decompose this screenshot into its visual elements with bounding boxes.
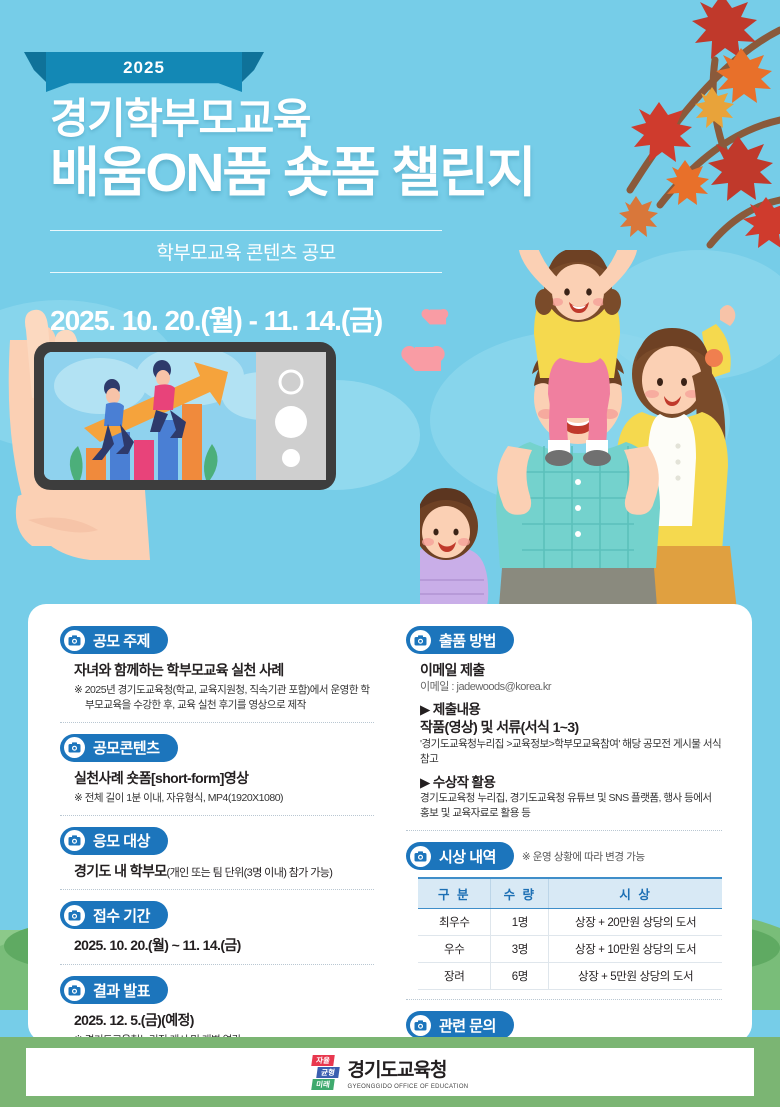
badge-eligibility: 응모 대상: [60, 827, 168, 855]
logo-tile-future: 미래: [311, 1079, 335, 1090]
logo-tile-balance: 균형: [316, 1067, 340, 1078]
table-header-row: 구 분 수 량 시 상: [418, 878, 722, 909]
smartphone-mockup: [34, 342, 336, 490]
ribbon-tail-right: [242, 52, 264, 82]
badge-contact: 관련 문의: [406, 1011, 514, 1039]
badge-label: 접수 기간: [93, 905, 150, 926]
winner-usage-heading: ▶ 수상작 활용: [420, 771, 722, 791]
badge-label: 공모 주제: [93, 630, 150, 651]
info-card: 공모 주제 자녀와 함께하는 학부모교육 실천 사례 ※ 2025년 경기도교육…: [28, 604, 752, 1042]
logo-tiles: 자율 균형 미래: [312, 1055, 339, 1090]
page-title-line1: 경기학부모교육: [50, 96, 610, 141]
eligibility-main: 경기도 내 학부모: [74, 863, 167, 879]
section-awards: 시상 내역 ※ 운영 상황에 따라 변경 가능 구 분 수 량 시 상: [406, 842, 722, 990]
awards-note: ※ 운영 상황에 따라 변경 가능: [522, 849, 645, 864]
poster-root: 2025 경기학부모교육 배움ON품 숏폼 챌린지 학부모교육 콘텐츠 공모 2…: [0, 0, 780, 1107]
table-row: 장려 6명 상장 + 5만원 상당의 도서: [418, 963, 722, 990]
submission-main-text: 이메일 제출: [420, 661, 722, 680]
application-period-text: 2025. 10. 20.(월) ~ 11. 14.(금): [74, 936, 374, 955]
section-submission-method: 출품 방법 이메일 제출 이메일 : jadewoods@korea.kr ▶ …: [406, 626, 722, 821]
submission-content-heading: ▶ 제출내용: [420, 698, 722, 718]
submission-email: 이메일 : jadewoods@korea.kr: [420, 680, 722, 695]
section-divider: [60, 964, 374, 965]
hero-subtitle: 학부모교육 콘텐츠 공모: [50, 238, 442, 265]
badge-contest-contents: 공모콘텐츠: [60, 734, 178, 762]
camera-icon: [64, 737, 85, 758]
col-header-category: 구 분: [418, 878, 491, 909]
footer-card: 자율 균형 미래 경기도교육청 GYEONGGIDO OFFICE OF EDU…: [26, 1048, 754, 1096]
cell-prize: 상장 + 5만원 상당의 도서: [549, 963, 722, 990]
camera-icon: [64, 630, 85, 651]
logo-name-english: GYEONGGIDO OFFICE OF EDUCATION: [348, 1084, 469, 1090]
submission-content-main: 작품(영상) 및 서류(서식 1~3): [420, 718, 722, 737]
eligibility-main-text: 경기도 내 학부모(개인 또는 팀 단위(3명 이내) 참가 가능): [74, 862, 374, 881]
result-date-text: 2025. 12. 5.(금)(예정): [74, 1011, 374, 1030]
logo-text-block: 경기도교육청 GYEONGGIDO OFFICE OF EDUCATION: [348, 1055, 469, 1090]
badge-label: 관련 문의: [439, 1015, 496, 1036]
cell-quantity: 1명: [491, 909, 549, 936]
badge-contest-topic: 공모 주제: [60, 626, 168, 654]
logo-tile-autonomy: 자율: [311, 1055, 335, 1066]
camera-icon: [410, 1015, 431, 1036]
year-badge: 2025: [46, 52, 242, 92]
contents-main-text: 실천사례 숏폼[short-form]영상: [74, 769, 374, 788]
cell-quantity: 6명: [491, 963, 549, 990]
col-header-prize: 시 상: [549, 878, 722, 909]
badge-awards: 시상 내역: [406, 842, 514, 870]
camera-icon: [410, 630, 431, 651]
section-divider: [406, 999, 722, 1000]
cell-category: 최우수: [418, 909, 491, 936]
camera-icon: [410, 846, 431, 867]
small-boy-figure: [420, 488, 488, 620]
camera-icon: [64, 905, 85, 926]
topic-note-text: ※ 2025년 경기도교육청(학교, 교육지원청, 직속기관 포함)에서 운영한…: [74, 683, 374, 713]
hero-text-block: 경기학부모교육 배움ON품 숏폼 챌린지 학부모교육 콘텐츠 공모 2025. …: [50, 96, 610, 339]
contents-note-text: ※ 전체 길이 1분 이내, 자유형식, MP4(1920X1080): [74, 791, 374, 806]
cell-category: 우수: [418, 936, 491, 963]
badge-label: 응모 대상: [93, 830, 150, 851]
section-divider: [406, 830, 722, 831]
badge-application-period: 접수 기간: [60, 901, 168, 929]
cell-prize: 상장 + 10만원 상당의 도서: [549, 936, 722, 963]
section-divider: [60, 722, 374, 723]
awards-table: 구 분 수 량 시 상 최우수 1명 상장 + 20만원 상당의 도서: [418, 877, 722, 990]
page-title-line2: 배움ON품 숏폼 챌린지: [50, 143, 610, 203]
ribbon-tail-left: [24, 52, 46, 82]
table-row: 우수 3명 상장 + 10만원 상당의 도서: [418, 936, 722, 963]
logo-name-korean: 경기도교육청: [348, 1055, 469, 1082]
hand-with-phone-illustration: [0, 300, 420, 600]
badge-submission-method: 출품 방법: [406, 626, 514, 654]
winner-usage-note: 경기도교육청 누리집, 경기도교육청 유튜브 및 SNS 플랫폼, 행사 등에서…: [420, 791, 722, 821]
camera-icon: [64, 980, 85, 1001]
section-eligibility: 응모 대상 경기도 내 학부모(개인 또는 팀 단위(3명 이내) 참가 가능): [60, 827, 374, 881]
badge-label: 출품 방법: [439, 630, 496, 651]
badge-label: 결과 발표: [93, 980, 150, 1001]
heart-icon: [430, 310, 446, 325]
section-divider: [60, 889, 374, 890]
topic-main-text: 자녀와 함께하는 학부모교육 실천 사례: [74, 661, 374, 680]
heart-icon: [415, 347, 441, 371]
submission-content-note: '경기도교육청누리집 >교육정보>학부모교육참여' 해당 공모전 게시물 서식 …: [420, 737, 722, 767]
col-header-quantity: 수 량: [491, 878, 549, 909]
badge-label: 공모콘텐츠: [93, 737, 160, 758]
hero-date-range: 2025. 10. 20.(월) - 11. 14.(금): [50, 299, 610, 339]
table-row: 최우수 1명 상장 + 20만원 상당의 도서: [418, 909, 722, 936]
badge-label: 시상 내역: [439, 846, 496, 867]
section-contest-topic: 공모 주제 자녀와 함께하는 학부모교육 실천 사례 ※ 2025년 경기도교육…: [60, 626, 374, 713]
badge-result-announcement: 결과 발표: [60, 976, 168, 1004]
section-divider: [60, 815, 374, 816]
left-column: 공모 주제 자녀와 함께하는 학부모교육 실천 사례 ※ 2025년 경기도교육…: [28, 626, 390, 1042]
section-application-period: 접수 기간 2025. 10. 20.(월) ~ 11. 14.(금): [60, 901, 374, 955]
camera-icon: [64, 830, 85, 851]
eligibility-detail: (개인 또는 팀 단위(3명 이내) 참가 가능): [167, 867, 333, 879]
cell-quantity: 3명: [491, 936, 549, 963]
hero-subtitle-frame: 학부모교육 콘텐츠 공모: [50, 230, 442, 273]
cell-category: 장려: [418, 963, 491, 990]
cell-prize: 상장 + 20만원 상당의 도서: [549, 909, 722, 936]
right-column: 출품 방법 이메일 제출 이메일 : jadewoods@korea.kr ▶ …: [390, 626, 752, 1042]
section-contest-contents: 공모콘텐츠 실천사례 숏폼[short-form]영상 ※ 전체 길이 1분 이…: [60, 734, 374, 806]
gyeonggi-education-logo: 자율 균형 미래 경기도교육청 GYEONGGIDO OFFICE OF EDU…: [312, 1055, 469, 1090]
